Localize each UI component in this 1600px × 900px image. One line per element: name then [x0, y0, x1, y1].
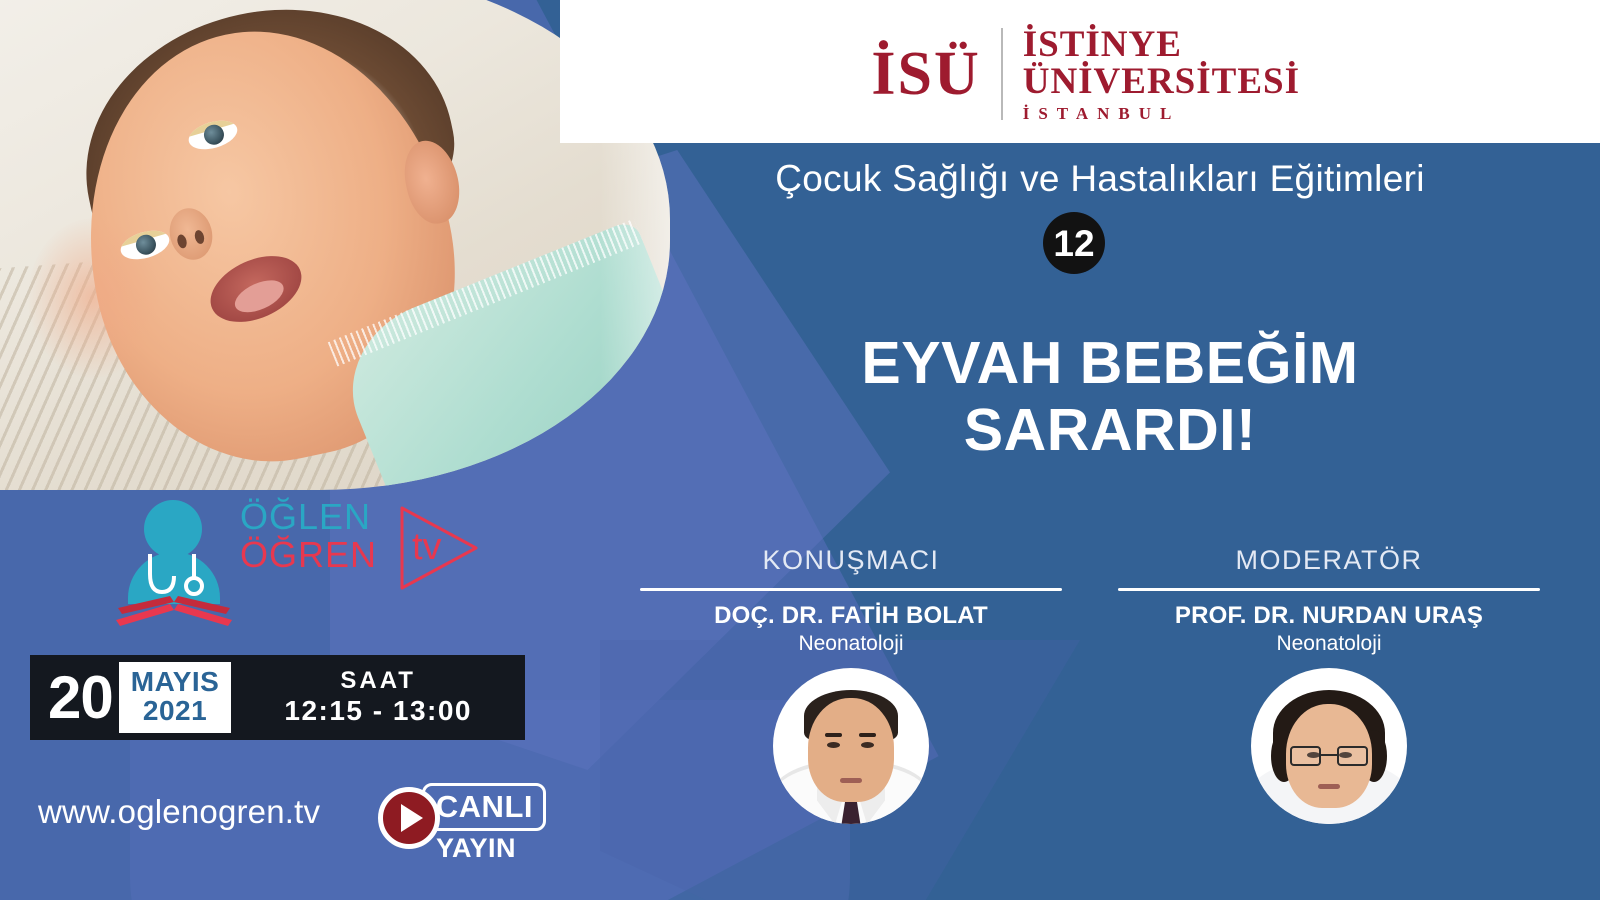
university-name-line2: ÜNİVERSİTESİ — [1023, 63, 1300, 100]
moderator-name: PROF. DR. NURDAN URAŞ — [1118, 602, 1540, 630]
moderator-photo — [1251, 668, 1407, 824]
tv-play-icon: tv — [392, 500, 484, 596]
event-month-box: MAYIS 2021 — [119, 662, 232, 732]
speaker-photo — [773, 668, 929, 824]
moderator-role-label: MODERATÖR — [1118, 546, 1540, 576]
glasses-icon — [1290, 746, 1368, 766]
glasses-bridge — [1321, 754, 1337, 756]
talk-title-line1: EYVAH BEBEĞİM — [660, 330, 1560, 397]
speaker-department: Neonatoloji — [640, 631, 1062, 656]
series-title: Çocuk Sağlığı ve Hastalıkları Eğitimleri — [650, 158, 1550, 200]
university-logo: İSÜ İSTİNYE ÜNİVERSİTESİ İSTANBUL — [871, 26, 1300, 122]
logo-divider — [1001, 28, 1003, 120]
moderator-divider — [1118, 588, 1540, 591]
header-band: İSÜ İSTİNYE ÜNİVERSİTESİ İSTANBUL — [560, 0, 1600, 143]
event-month: MAYIS — [131, 668, 220, 697]
date-time-strip: 20 MAYIS 2021 SAAT 12:15 - 13:00 — [30, 655, 525, 740]
event-time-block: SAAT 12:15 - 13:00 — [231, 668, 525, 726]
university-city: İSTANBUL — [1023, 105, 1300, 122]
speaker-mouth — [840, 778, 862, 783]
speaker-brow-left — [825, 733, 842, 737]
glasses-lens-right — [1337, 746, 1368, 766]
live-label-yayin: YAYIN — [436, 833, 516, 864]
website-url[interactable]: www.oglenogren.tv — [38, 793, 320, 831]
speaker-brow-right — [859, 733, 876, 737]
moderator-block: MODERATÖR PROF. DR. NURDAN URAŞ Neonatol… — [1118, 546, 1540, 824]
play-triangle-icon — [401, 804, 423, 832]
channel-word-oglen: ÖĞLEN — [240, 498, 377, 536]
channel-logo-words: ÖĞLEN ÖĞREN — [240, 498, 377, 574]
moderator-department: Neonatoloji — [1118, 631, 1540, 656]
speaker-face — [808, 698, 894, 802]
university-name: İSTİNYE ÜNİVERSİTESİ İSTANBUL — [1023, 26, 1300, 122]
glasses-lens-left — [1290, 746, 1321, 766]
time-value: 12:15 - 13:00 — [231, 695, 525, 726]
speaker-name: DOÇ. DR. FATİH BOLAT — [640, 602, 1062, 630]
event-day: 20 — [30, 668, 119, 728]
open-book-icon — [112, 596, 236, 626]
live-label-canli: CANLI — [422, 783, 546, 831]
time-label: SAAT — [231, 668, 525, 695]
doctor-head-icon — [144, 500, 202, 558]
poster-root: İSÜ İSTİNYE ÜNİVERSİTESİ İSTANBUL Çocuk … — [0, 0, 1600, 900]
people-section: KONUŞMACI DOÇ. DR. FATİH BOLAT Neonatolo… — [640, 546, 1540, 824]
event-year: 2021 — [131, 697, 220, 726]
speaker-role-label: KONUŞMACI — [640, 546, 1062, 576]
channel-word-ogren: ÖĞREN — [240, 536, 377, 574]
channel-logo: ÖĞLEN ÖĞREN tv — [118, 492, 478, 612]
university-name-line1: İSTİNYE — [1023, 26, 1300, 63]
speaker-block: KONUŞMACI DOÇ. DR. FATİH BOLAT Neonatolo… — [640, 546, 1062, 824]
talk-title: EYVAH BEBEĞİM SARARDI! — [660, 330, 1560, 465]
university-abbr-logo: İSÜ — [871, 43, 980, 105]
live-broadcast-badge[interactable]: CANLI YAYIN — [378, 779, 548, 875]
talk-title-line2: SARARDI! — [660, 397, 1560, 464]
doctor-icon — [118, 496, 230, 608]
moderator-mouth — [1318, 784, 1340, 789]
play-button-icon[interactable] — [378, 787, 440, 849]
tv-label: tv — [412, 528, 442, 566]
speaker-divider — [640, 588, 1062, 591]
episode-badge: 12 — [1043, 212, 1105, 274]
